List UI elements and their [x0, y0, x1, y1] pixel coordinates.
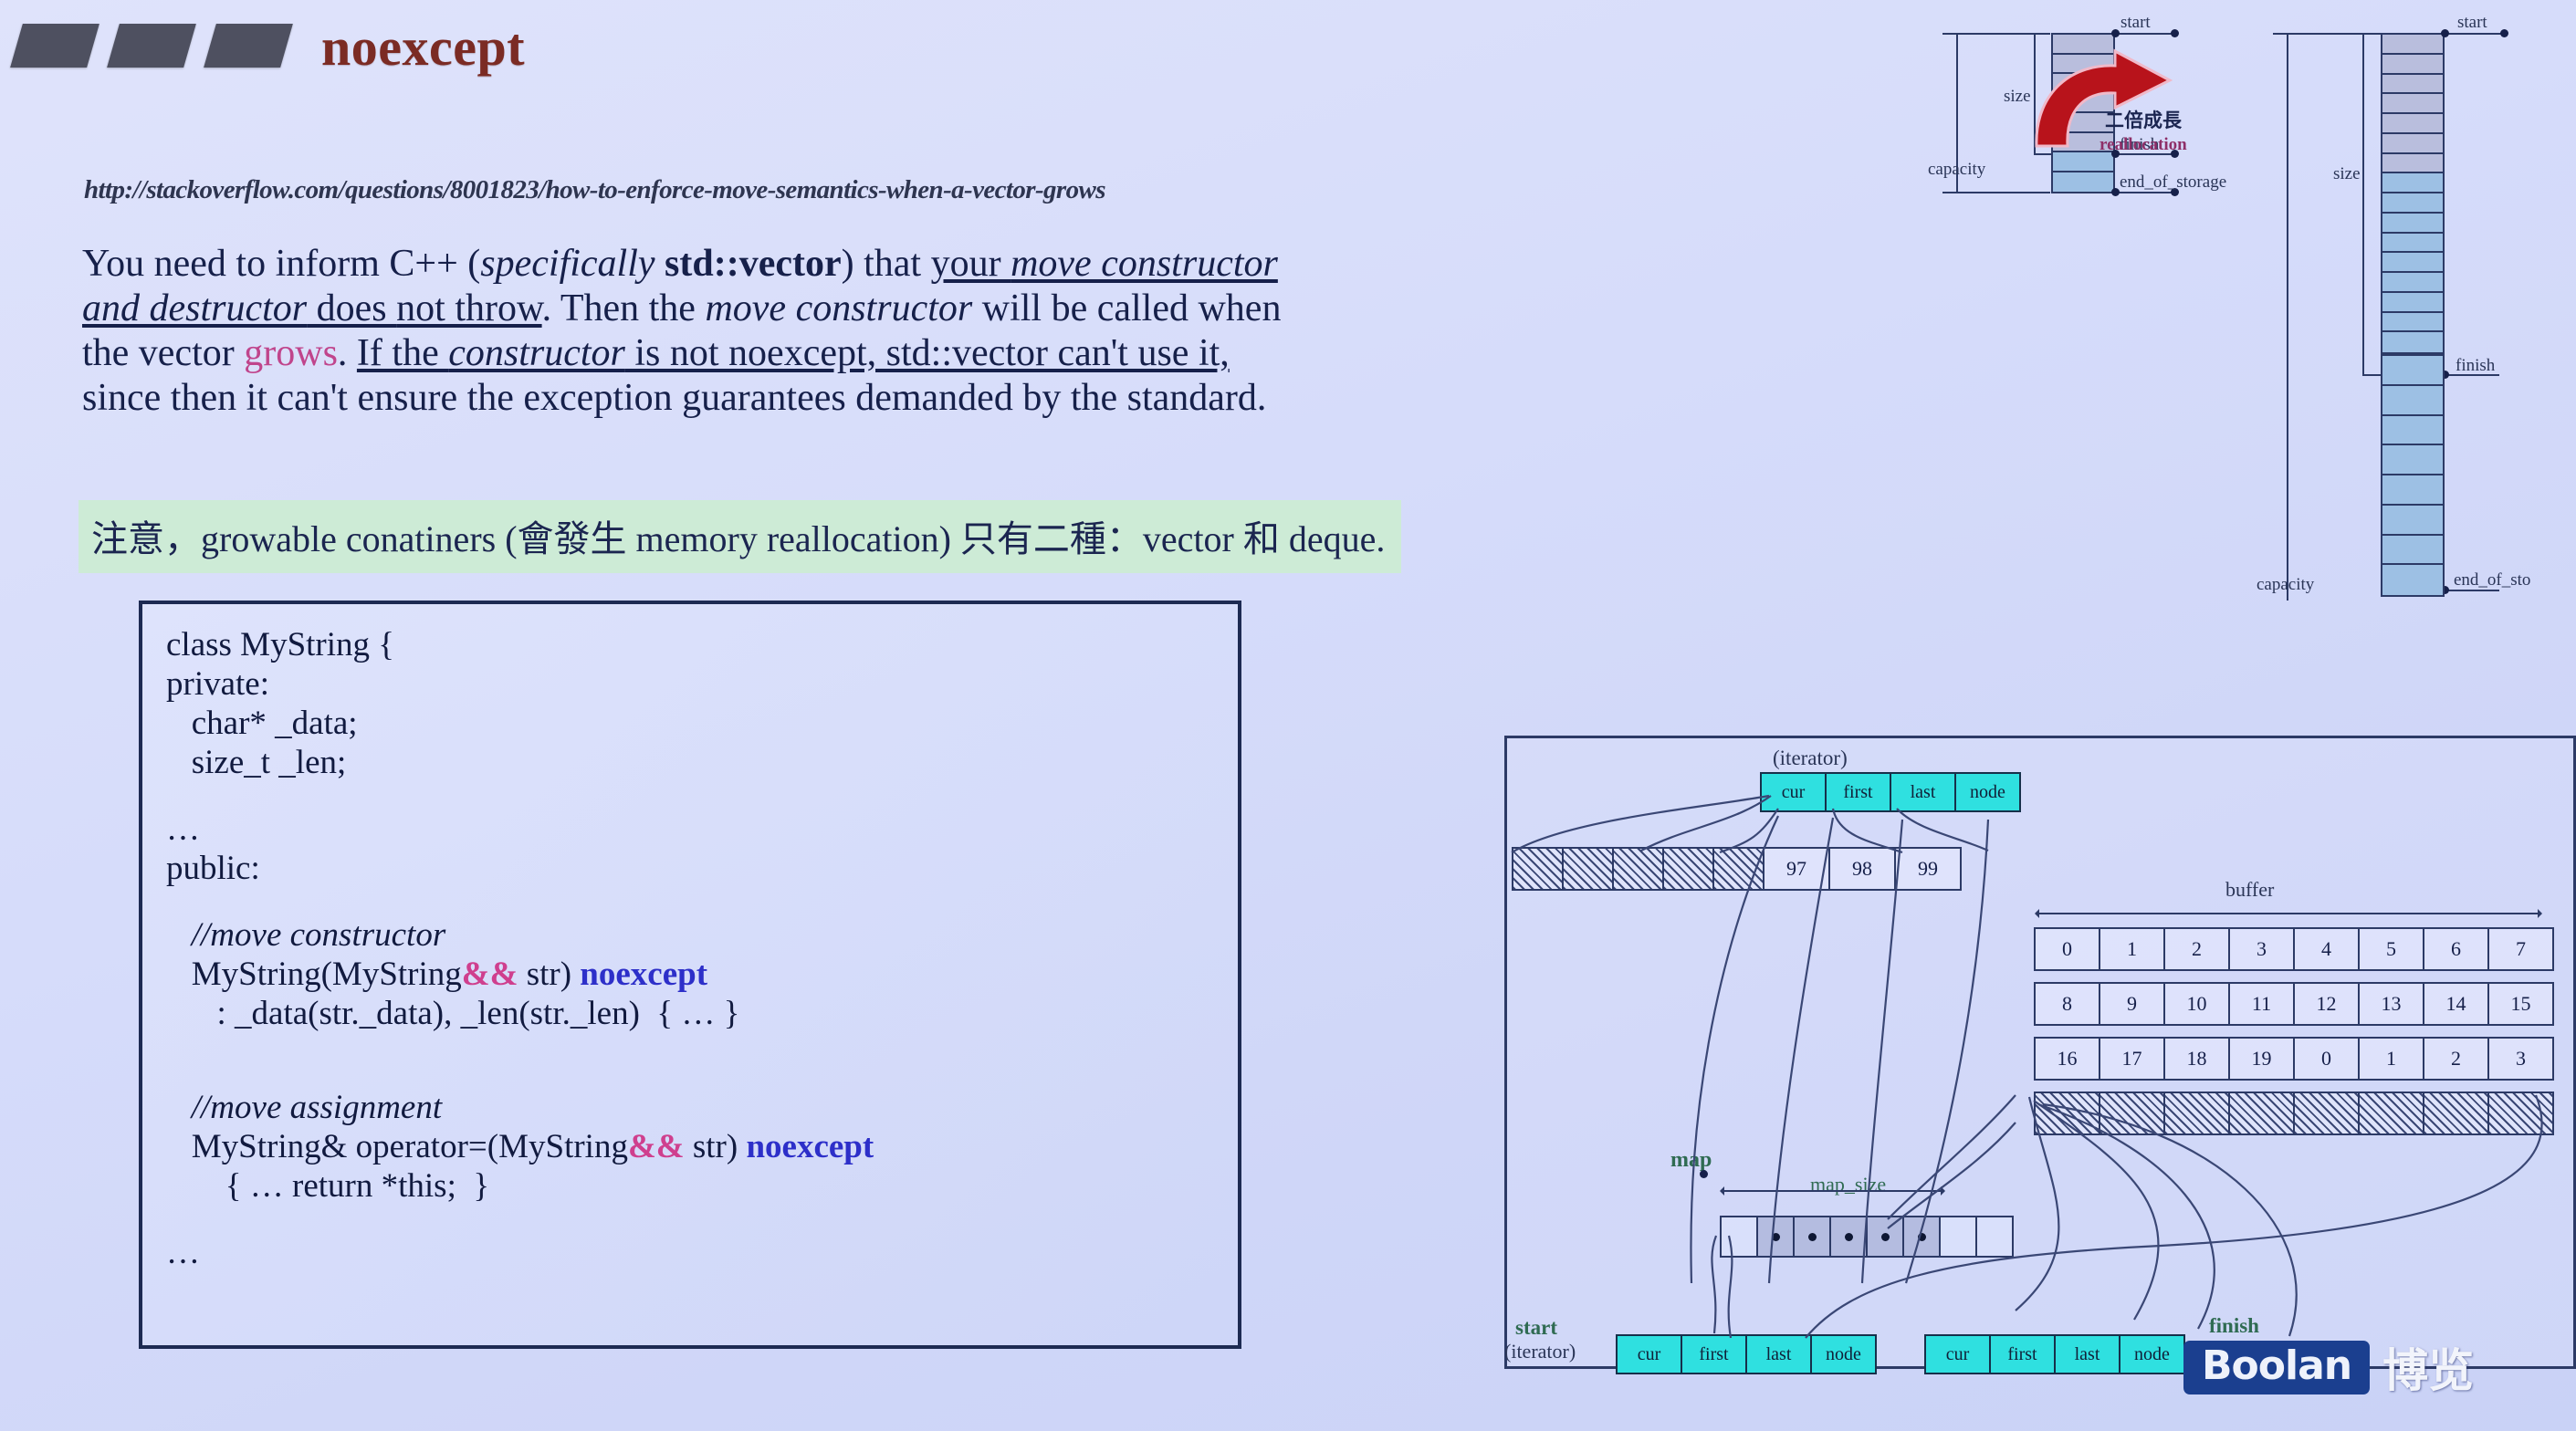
buffer-row-0: 0 1 2 3 4 5 6 7 [2034, 927, 2554, 971]
capacity-bracket-bottom-left [1942, 192, 2050, 193]
map-cell-filled [1868, 1217, 1904, 1256]
logo-bars [16, 24, 287, 68]
iterator-field-first: first [1827, 774, 1891, 810]
para-seg-grows: grows [244, 332, 338, 374]
map-cell [1941, 1217, 1977, 1256]
para-seg: move constructor [705, 287, 972, 329]
para-seg: not throw [396, 287, 541, 329]
logo-bar-1 [10, 24, 99, 68]
label-capacity-left: capacity [1928, 160, 1985, 180]
brand-name: Boolan [2183, 1341, 2370, 1394]
buffer-cell-hatched [2295, 1093, 2360, 1133]
label-map: map [1670, 1148, 1712, 1173]
buffer-cell: 19 [2230, 1039, 2295, 1079]
capacity-bracket-top-right [2273, 33, 2381, 35]
code-seg: MyString(MyString [166, 956, 462, 993]
label-start-iterator: start [1515, 1316, 1557, 1340]
map-size-arrow [1721, 1190, 1944, 1192]
deque-cell-value: 98 [1830, 849, 1896, 889]
buffer-row-1: 8 9 10 11 12 13 14 15 [2034, 982, 2554, 1026]
vector-column-after [2381, 33, 2445, 354]
eos-dot-left [2111, 188, 2120, 196]
para-seg: move constructor [1011, 243, 1278, 285]
buffer-cell: 4 [2295, 929, 2360, 969]
size-tick-right [2362, 374, 2382, 376]
map-cell-filled [1831, 1217, 1868, 1256]
code-lines: class MyString { private: char* _data; s… [142, 604, 1238, 1273]
code-seg-keyword: noexcept [746, 1128, 874, 1165]
buffer-cell-hatched [2165, 1093, 2230, 1133]
para-seg: . Then the [542, 287, 706, 329]
size-arrow-right [2362, 35, 2364, 374]
start-dot-right-end [2500, 29, 2508, 37]
label-size-left: size [2004, 87, 2031, 107]
code-seg: MyString& operator=(MyString [166, 1128, 628, 1165]
buffer-cell: 16 [2036, 1039, 2100, 1079]
code-spacer [166, 889, 1238, 916]
code-line: class MyString { [166, 626, 1238, 665]
code-spacer [166, 1061, 1238, 1089]
para-seg: your [931, 243, 1011, 285]
deque-cell-hatched [1614, 849, 1664, 889]
buffer-cell: 13 [2360, 984, 2424, 1024]
label-start-left: start [2120, 13, 2151, 33]
buffer-row-2: 16 17 18 19 0 1 2 3 [2034, 1037, 2554, 1081]
map-pointer-dot [1700, 1170, 1708, 1178]
label-buffer: buffer [2225, 878, 2274, 902]
para-seg: std::vector [665, 243, 842, 285]
finish-field-node: node [2120, 1336, 2183, 1373]
source-url: http://stackoverflow.com/questions/80018… [84, 175, 1105, 205]
para-seg: the vector [82, 332, 244, 374]
code-seg-amp: && [628, 1128, 685, 1165]
label-finish-right: finish [2456, 356, 2495, 376]
para-seg: constructor [448, 332, 625, 374]
code-spacer [166, 1206, 1238, 1234]
para-seg: is not noexcept, std::vector can't use i… [625, 332, 1230, 374]
iterator-caption: (iterator) [1773, 747, 1848, 770]
buffer-cell: 18 [2165, 1039, 2230, 1079]
code-line: MyString& operator=(MyString&& str) noex… [166, 1128, 1238, 1167]
buffer-row-hatched [2034, 1092, 2554, 1135]
code-line: MyString(MyString&& str) noexcept [166, 956, 1238, 995]
label-reallocation: reallocation [2100, 135, 2187, 155]
label-capacity-right: capacity [2257, 575, 2314, 595]
para-seg: specifically [480, 243, 665, 285]
code-box: class MyString { private: char* _data; s… [139, 601, 1241, 1349]
buffer-cell: 6 [2424, 929, 2489, 969]
buffer-cell: 12 [2295, 984, 2360, 1024]
start-field-cur: cur [1618, 1336, 1682, 1373]
map-row [1720, 1216, 2014, 1258]
buffer-cell: 2 [2165, 929, 2230, 969]
buffer-cell-hatched [2360, 1093, 2424, 1133]
iterator-field-last: last [1891, 774, 1956, 810]
label-eos-left: end_of_storage [2120, 172, 2226, 193]
start-field-first: first [1682, 1336, 1747, 1373]
slide-root: noexcept http://stackoverflow.com/questi… [0, 0, 2576, 1431]
capacity-arrow-right [2287, 35, 2288, 601]
buffer-cell: 10 [2165, 984, 2230, 1024]
body-paragraph: You need to inform C++ (specifically std… [82, 242, 1597, 422]
finish-iterator-box: cur first last node [1924, 1334, 2185, 1374]
code-line: public: [166, 850, 1238, 889]
map-cell-filled [1758, 1217, 1795, 1256]
start-dot-left-end [2171, 29, 2179, 37]
para-seg: . [338, 332, 357, 374]
label-size-right: size [2333, 164, 2361, 184]
buffer-cell: 9 [2100, 984, 2165, 1024]
para-seg: will be called when [972, 287, 1281, 329]
page-title: noexcept [321, 16, 525, 78]
map-cell-filled [1795, 1217, 1831, 1256]
brand-name-cn: 博览 [2382, 1334, 2474, 1400]
deque-cell-hatched [1664, 849, 1714, 889]
code-line: private: [166, 665, 1238, 705]
para-seg: ) that [842, 243, 931, 285]
logo-bar-2 [107, 24, 196, 68]
logo-bar-3 [204, 24, 293, 68]
deque-cell-hatched [1513, 849, 1564, 889]
buffer-cell-hatched [2100, 1093, 2165, 1133]
iterator-field-cur: cur [1762, 774, 1827, 810]
code-line: size_t _len; [166, 744, 1238, 783]
buffer-cell: 15 [2489, 984, 2552, 1024]
buffer-cell: 14 [2424, 984, 2489, 1024]
buffer-span-arrow [2036, 913, 2541, 914]
buffer-cell: 3 [2489, 1039, 2552, 1079]
code-line-comment: //move constructor [166, 916, 1238, 956]
code-line-comment: //move assignment [166, 1089, 1238, 1128]
para-seg: If the [357, 332, 448, 374]
start-dot-left [2111, 29, 2120, 37]
start-dot-right [2441, 29, 2449, 37]
map-cell-filled [1904, 1217, 1941, 1256]
label-start-right: start [2457, 13, 2487, 33]
iterator-box-top: cur first last node [1760, 772, 2021, 812]
buffer-cell-hatched [2036, 1093, 2100, 1133]
brand-logo: Boolan 博览 [2183, 1334, 2474, 1400]
finish-field-last: last [2056, 1336, 2120, 1373]
code-line: : _data(str._data), _len(str._len) { … } [166, 995, 1238, 1034]
label-eos-right: end_of_sto [2454, 570, 2530, 590]
iterator-field-node: node [1956, 774, 2019, 810]
buffer-cell-hatched [2230, 1093, 2295, 1133]
vector-column-after-tail [2381, 354, 2445, 597]
start-field-node: node [1812, 1336, 1875, 1373]
code-spacer [166, 783, 1238, 810]
start-pointer-line-left [2115, 33, 2177, 35]
buffer-cell: 2 [2424, 1039, 2489, 1079]
buffer-cell: 11 [2230, 984, 2295, 1024]
code-seg: str) [518, 956, 580, 993]
para-seg: does [307, 287, 396, 329]
size-tick-left [2034, 153, 2052, 155]
buffer-cell: 1 [2100, 929, 2165, 969]
buffer-cell: 0 [2295, 1039, 2360, 1079]
para-seg: You need to inform C++ ( [82, 243, 480, 285]
code-line: … [166, 1234, 1238, 1273]
map-cell [1977, 1217, 2012, 1256]
deque-cell-value: 99 [1896, 849, 1960, 889]
code-line: … [166, 810, 1238, 850]
buffer-cell: 17 [2100, 1039, 2165, 1079]
deque-cell-hatched [1564, 849, 1614, 889]
para-seg: since then it can't ensure the exception… [82, 377, 1266, 419]
buffer-cell-hatched [2424, 1093, 2489, 1133]
code-spacer [166, 1034, 1238, 1061]
deque-top-row: 97 98 99 [1512, 847, 1962, 891]
buffer-cell: 1 [2360, 1039, 2424, 1079]
start-field-last: last [1747, 1336, 1812, 1373]
label-map-size: map_size [1810, 1173, 1886, 1196]
note-highlight: 注意，growable conatiners (會發生 memory reall… [79, 500, 1401, 573]
label-growth-zh: 二倍成長 [2105, 106, 2182, 133]
code-seg-amp: && [462, 956, 518, 993]
start-pointer-line-right [2445, 33, 2507, 35]
buffer-cell: 8 [2036, 984, 2100, 1024]
deque-cell-hatched [1714, 849, 1764, 889]
buffer-cell: 5 [2360, 929, 2424, 969]
start-iterator-caption: (iterator) [1504, 1340, 1576, 1363]
code-line: char* _data; [166, 705, 1238, 744]
code-seg: str) [685, 1128, 747, 1165]
buffer-cell-hatched [2489, 1093, 2552, 1133]
buffer-cell: 0 [2036, 929, 2100, 969]
finish-field-cur: cur [1926, 1336, 1991, 1373]
finish-field-first: first [1991, 1336, 2056, 1373]
map-cell [1722, 1217, 1758, 1256]
start-iterator-box: cur first last node [1616, 1334, 1877, 1374]
code-seg-keyword: noexcept [580, 956, 707, 993]
buffer-cell: 7 [2489, 929, 2552, 969]
deque-cell-value: 97 [1764, 849, 1830, 889]
code-line: { … return *this; } [166, 1167, 1238, 1206]
para-seg: and destructor [82, 287, 307, 329]
buffer-cell: 3 [2230, 929, 2295, 969]
